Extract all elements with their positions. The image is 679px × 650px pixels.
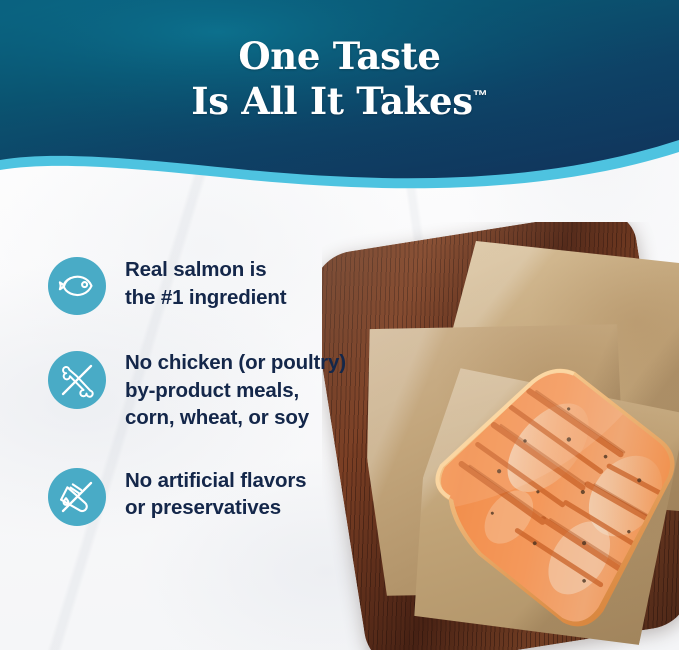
benefit-text: Real salmon is the #1 ingredient (125, 255, 286, 311)
no-test-tube-icon (48, 468, 106, 526)
page-title: One Taste Is All It Takes™ (0, 34, 679, 124)
fish-icon (48, 257, 106, 315)
benefit-text: No artificial flavors or preservatives (125, 466, 306, 522)
product-feature-panel: One Taste Is All It Takes™ Real salmon i… (0, 0, 679, 650)
trademark-symbol: ™ (473, 88, 488, 105)
benefits-list: Real salmon is the #1 ingredient No chic… (48, 255, 378, 526)
benefit-item-no-chicken: No chicken (or poultry) by-product meals… (48, 349, 378, 432)
title-line-2: Is All It Takes™ (191, 79, 487, 124)
title-line-2-text: Is All It Takes (191, 79, 472, 123)
benefit-item-real-salmon: Real salmon is the #1 ingredient (48, 255, 378, 315)
benefit-text: No chicken (or poultry) by-product meals… (125, 349, 346, 432)
title-line-1: One Taste (0, 34, 679, 79)
header-banner: One Taste Is All It Takes™ (0, 0, 679, 200)
benefit-item-no-artificial: No artificial flavors or preservatives (48, 466, 378, 526)
no-bone-icon (48, 351, 106, 409)
